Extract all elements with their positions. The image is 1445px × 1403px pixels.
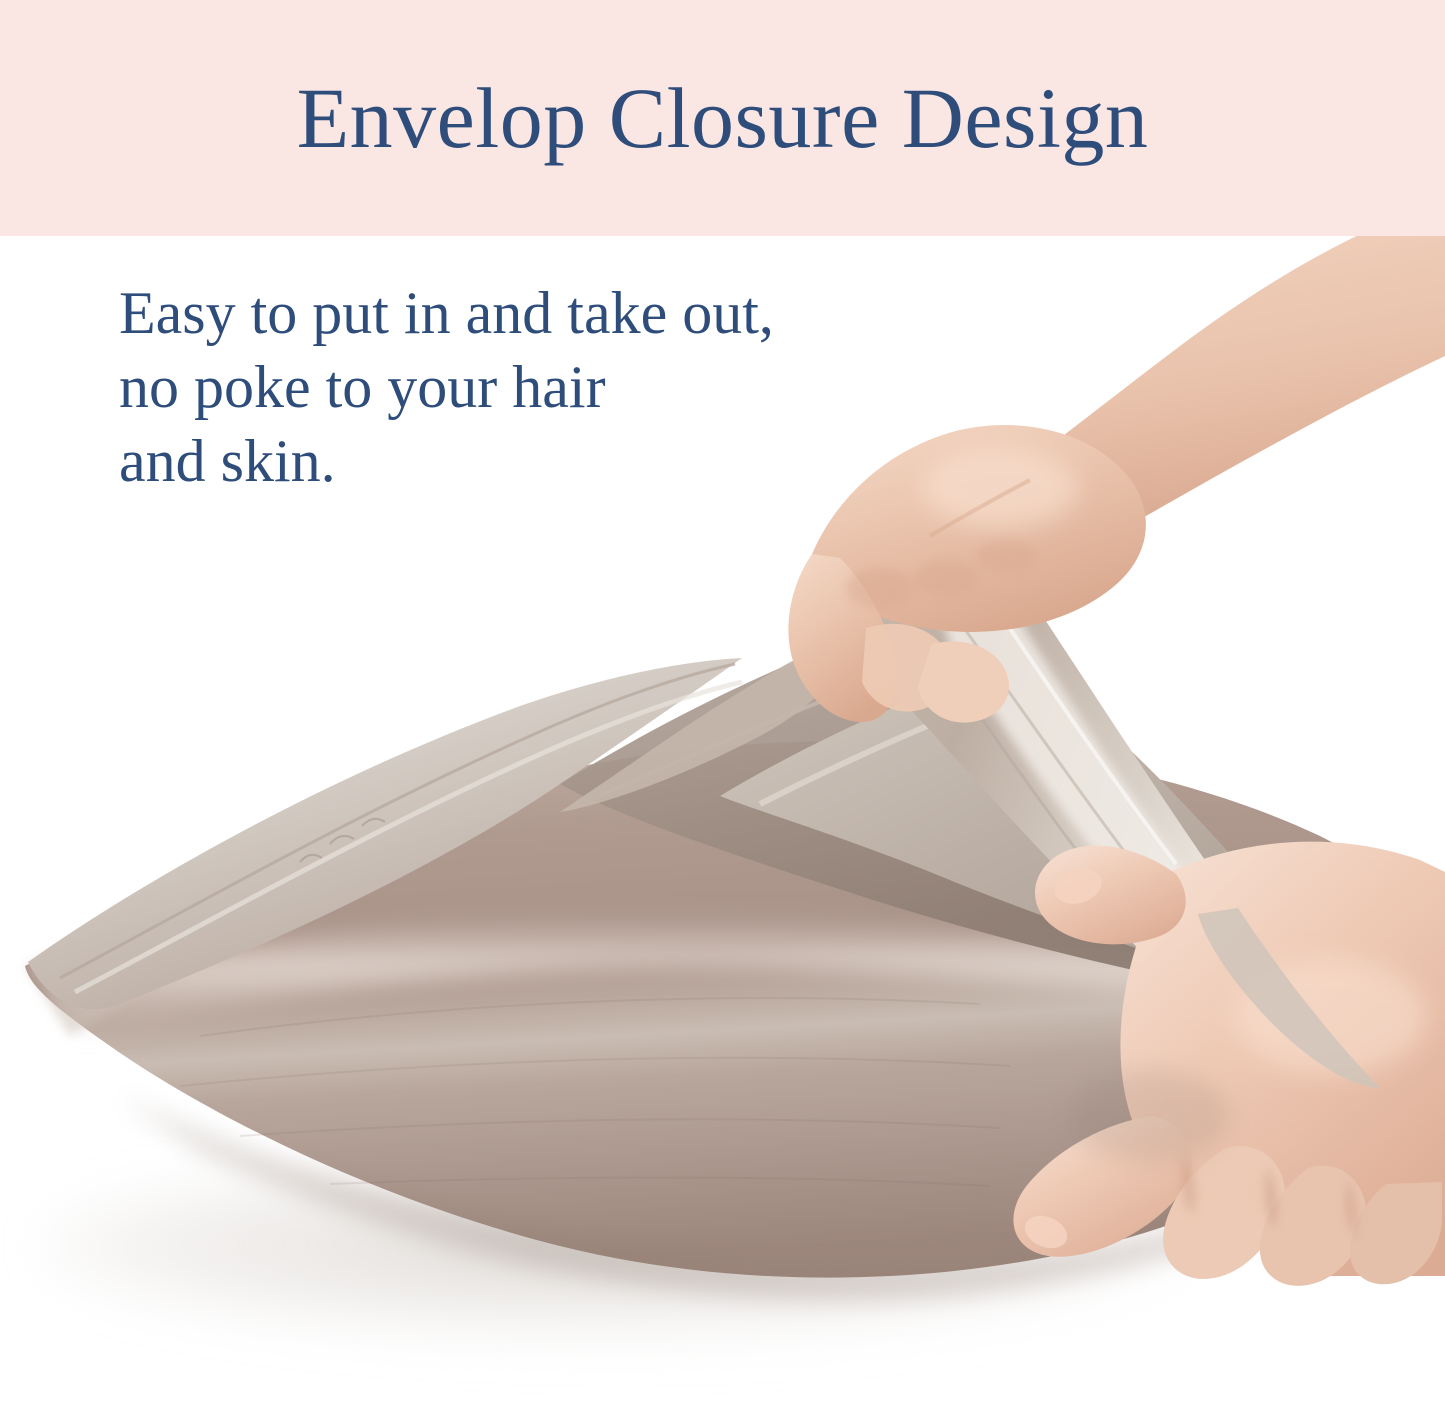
feature-description: Easy to put in and take out, no poke to …	[119, 276, 774, 498]
contact-shadow	[1070, 1070, 1230, 1162]
header-banner: Envelop Closure Design	[0, 0, 1445, 236]
page-title: Envelop Closure Design	[0, 0, 1445, 236]
product-feature-image: Envelop Closure Design Easy to put in an…	[0, 0, 1445, 1403]
